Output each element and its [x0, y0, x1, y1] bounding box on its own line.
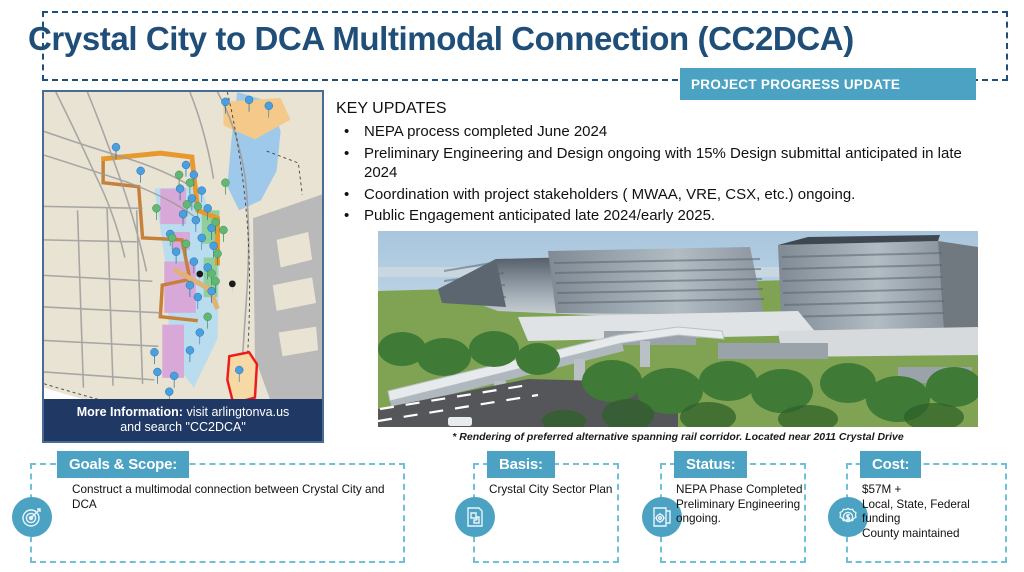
key-update-text: NEPA process completed June 2024	[364, 123, 607, 140]
bullet-icon: •	[344, 206, 349, 226]
map-graphic	[44, 92, 322, 440]
plan-document-icon	[455, 497, 495, 537]
target-icon	[12, 497, 52, 537]
bullet-icon: •	[344, 185, 349, 205]
map-banner-lead: More Information:	[77, 405, 183, 419]
card-status[interactable]: Status: NEPA Phase Completed Preliminary…	[660, 463, 806, 563]
map-banner-rest: visit arlingtonva.us	[183, 405, 289, 419]
card-basis-body: Crystal City Sector Plan	[489, 483, 619, 498]
map-more-info-banner: More Information: visit arlingtonva.us a…	[44, 399, 322, 441]
rendering-block: * Rendering of preferred alternative spa…	[378, 231, 978, 427]
card-goals-scope-title: Goals & Scope:	[57, 451, 189, 478]
key-update-item: • Public Engagement anticipated late 202…	[336, 206, 986, 226]
rendering-graphic	[378, 231, 978, 427]
key-updates-heading: KEY UPDATES	[336, 100, 986, 118]
map-banner-line2: and search "CC2DCA"	[120, 420, 246, 435]
key-updates-list: • NEPA process completed June 2024 • Pre…	[336, 122, 986, 226]
card-goals-scope-body: Construct a multimodal connection betwee…	[72, 483, 392, 512]
key-updates-block: KEY UPDATES • NEPA process completed Jun…	[336, 100, 986, 228]
page-title: Crystal City to DCA Multimodal Connectio…	[28, 20, 988, 58]
ribbon-label: PROJECT PROGRESS UPDATE	[680, 77, 900, 92]
card-cost-body: $57M + Local, State, Federal funding Cou…	[862, 483, 1007, 541]
card-cost[interactable]: Cost: $57M + Local, State, Federal fundi…	[846, 463, 1007, 563]
key-update-text: Public Engagement anticipated late 2024/…	[364, 207, 715, 224]
slide-root: Crystal City to DCA Multimodal Connectio…	[0, 0, 1024, 572]
key-update-item: • Preliminary Engineering and Design ong…	[336, 144, 986, 183]
project-rendering-image[interactable]	[378, 231, 978, 427]
card-goals-scope[interactable]: Goals & Scope: Construct a multimodal co…	[30, 463, 405, 563]
rendering-caption: * Rendering of preferred alternative spa…	[378, 431, 978, 443]
key-update-item: • NEPA process completed June 2024	[336, 122, 986, 142]
key-update-text: Preliminary Engineering and Design ongoi…	[364, 145, 962, 182]
key-update-text: Coordination with project stakeholders (…	[364, 186, 855, 203]
card-cost-title: Cost:	[860, 451, 921, 478]
card-status-title: Status:	[674, 451, 747, 478]
card-basis[interactable]: Basis: Crystal City Sector Plan	[473, 463, 619, 563]
card-status-body: NEPA Phase Completed Preliminary Enginee…	[676, 483, 808, 527]
card-basis-title: Basis:	[487, 451, 555, 478]
map-banner-line1: More Information: visit arlingtonva.us	[77, 405, 290, 420]
bullet-icon: •	[344, 122, 349, 142]
project-area-map[interactable]: More Information: visit arlingtonva.us a…	[42, 90, 324, 443]
bullet-icon: •	[344, 144, 349, 164]
project-progress-ribbon: PROJECT PROGRESS UPDATE	[680, 68, 976, 100]
key-update-item: • Coordination with project stakeholders…	[336, 185, 986, 205]
